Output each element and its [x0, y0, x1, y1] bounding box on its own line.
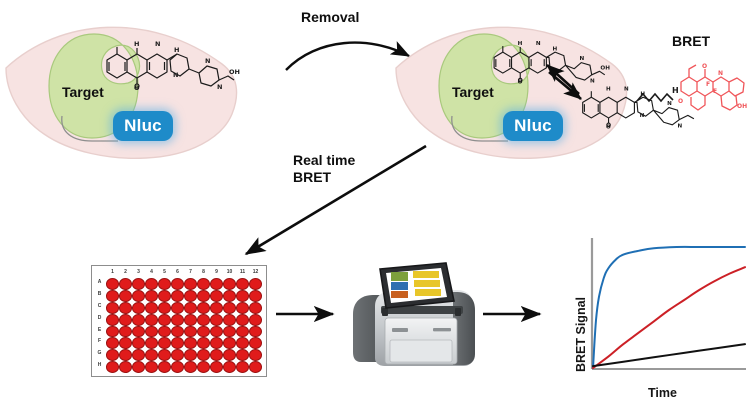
plate-col-label: 6 [171, 269, 184, 275]
plate-well[interactable] [119, 290, 132, 302]
plate-well[interactable] [158, 326, 171, 338]
nluc-label-right: Nluc [514, 116, 552, 136]
svg-text:O: O [702, 63, 707, 70]
plate-well[interactable] [171, 290, 184, 302]
svg-text:N: N [217, 83, 222, 91]
plate-col-label: 8 [197, 269, 210, 275]
svg-text:H: H [606, 86, 611, 92]
real-time-bret-arrow [232, 142, 432, 267]
plate-well[interactable] [158, 290, 171, 302]
plate-well[interactable] [106, 337, 119, 349]
plate-well[interactable] [223, 290, 236, 302]
plate-row-label: E [94, 327, 105, 333]
target-label-left: Target [62, 84, 104, 101]
microplate[interactable]: 123456789101112 ABCDEFGH [91, 265, 267, 377]
plate-well[interactable] [158, 361, 171, 373]
svg-text:O: O [678, 98, 683, 105]
plate-well[interactable] [119, 361, 132, 373]
plate-well[interactable] [158, 302, 171, 314]
plate-well[interactable] [210, 290, 223, 302]
reader-to-chart-arrow [482, 303, 554, 325]
plate-well[interactable] [184, 302, 197, 314]
plate-well[interactable] [184, 337, 197, 349]
plate-well[interactable] [106, 290, 119, 302]
plate-well[interactable] [197, 361, 210, 373]
nluc-label-left: Nluc [124, 116, 162, 136]
svg-text:N: N [536, 41, 541, 47]
plate-well[interactable] [132, 337, 145, 349]
plate-to-reader-arrow [275, 303, 347, 325]
screen-block [415, 289, 441, 296]
svg-text:OH: OH [737, 103, 747, 110]
plate-well[interactable] [171, 314, 184, 326]
plate-well[interactable] [132, 361, 145, 373]
plate-row-label: C [94, 303, 105, 309]
plate-well[interactable] [236, 326, 249, 338]
plate-well-grid[interactable] [106, 278, 262, 373]
plate-well[interactable] [132, 349, 145, 361]
plate-well[interactable] [236, 290, 249, 302]
plate-well[interactable] [119, 349, 132, 361]
svg-text:OH: OH [229, 68, 240, 76]
plate-well[interactable] [132, 302, 145, 314]
chart-series-low-linear [593, 344, 745, 366]
chart-series-slow-rising [593, 267, 745, 368]
chart-plot-area [588, 238, 748, 380]
plate-well[interactable] [249, 326, 262, 338]
svg-text:H: H [134, 40, 139, 48]
plate-well[interactable] [106, 314, 119, 326]
plate-well[interactable] [197, 337, 210, 349]
plate-well[interactable] [145, 278, 158, 290]
plate-well[interactable] [197, 314, 210, 326]
plate-well[interactable] [184, 361, 197, 373]
plate-well[interactable] [210, 361, 223, 373]
svg-text:F: F [706, 81, 710, 88]
plate-row-label: G [94, 350, 105, 356]
ligand-structure-left: H N H N N N OH O [100, 34, 240, 92]
plate-row-label: B [94, 291, 105, 297]
plate-well[interactable] [223, 326, 236, 338]
plate-well[interactable] [249, 361, 262, 373]
plate-well[interactable] [236, 278, 249, 290]
svg-text:OH: OH [600, 66, 610, 72]
plate-column-headers: 123456789101112 [92, 266, 266, 278]
bret-kinetics-chart: BRET Signal Time [560, 238, 750, 408]
plate-well[interactable] [197, 278, 210, 290]
svg-text:N: N [624, 86, 629, 92]
removal-label: Removal [301, 9, 359, 26]
plate-well[interactable] [197, 349, 210, 361]
chart-x-axis-label: Time [648, 386, 677, 400]
plate-well[interactable] [171, 278, 184, 290]
plate-well[interactable] [236, 349, 249, 361]
plate-well[interactable] [210, 337, 223, 349]
plate-well[interactable] [106, 278, 119, 290]
plate-col-label: 7 [184, 269, 197, 275]
plate-well[interactable] [119, 302, 132, 314]
svg-text:N: N [718, 70, 723, 77]
plate-well[interactable] [249, 278, 262, 290]
plate-well[interactable] [223, 349, 236, 361]
svg-text:F: F [713, 88, 717, 95]
plate-well[interactable] [158, 349, 171, 361]
plate-col-label: 9 [210, 269, 223, 275]
plate-well[interactable] [210, 349, 223, 361]
screen-block [414, 280, 440, 287]
plate-well[interactable] [184, 278, 197, 290]
screen-block [391, 291, 408, 298]
plate-well[interactable] [119, 326, 132, 338]
plate-row-headers: ABCDEFGH [92, 266, 106, 376]
plate-col-label: 2 [119, 269, 132, 275]
plate-well[interactable] [145, 314, 158, 326]
plate-well[interactable] [171, 337, 184, 349]
bret-label: BRET [672, 33, 710, 50]
plate-well[interactable] [145, 337, 158, 349]
plate-well[interactable] [145, 361, 158, 373]
plate-well[interactable] [210, 278, 223, 290]
plate-well[interactable] [249, 337, 262, 349]
svg-text:H: H [174, 46, 179, 54]
plate-well[interactable] [158, 278, 171, 290]
plate-reader[interactable] [345, 262, 485, 372]
chart-y-axis-label: BRET Signal [574, 297, 588, 372]
plate-row-label: A [94, 279, 105, 285]
svg-text:H: H [518, 41, 523, 47]
plate-well[interactable] [236, 361, 249, 373]
plate-well[interactable] [132, 290, 145, 302]
plate-well[interactable] [184, 349, 197, 361]
svg-text:N: N [205, 57, 210, 65]
plate-well[interactable] [249, 349, 262, 361]
screen-block [391, 272, 408, 281]
plate-well[interactable] [210, 326, 223, 338]
plate-well[interactable] [119, 337, 132, 349]
plate-well[interactable] [119, 278, 132, 290]
reader-screen[interactable] [374, 261, 458, 317]
plate-well[interactable] [197, 290, 210, 302]
screen-block [413, 271, 439, 278]
plate-well[interactable] [184, 290, 197, 302]
plate-well[interactable] [106, 349, 119, 361]
svg-text:N: N [155, 40, 160, 48]
svg-text:O: O [518, 80, 523, 86]
plate-well[interactable] [223, 278, 236, 290]
fluorophore-structure: O N O OH F F [676, 60, 748, 122]
nluc-badge-left: Nluc [113, 111, 173, 141]
plate-well[interactable] [171, 349, 184, 361]
plate-well[interactable] [184, 314, 197, 326]
plate-well[interactable] [132, 326, 145, 338]
plate-well[interactable] [158, 337, 171, 349]
plate-well[interactable] [249, 302, 262, 314]
plate-well[interactable] [106, 302, 119, 314]
plate-col-label: 11 [236, 269, 249, 275]
plate-col-label: 4 [145, 269, 158, 275]
plate-col-label: 5 [158, 269, 171, 275]
plate-well[interactable] [145, 302, 158, 314]
plate-well[interactable] [223, 314, 236, 326]
plate-col-label: 12 [249, 269, 262, 275]
plate-well[interactable] [158, 314, 171, 326]
plate-well[interactable] [145, 290, 158, 302]
plate-row-label: D [94, 315, 105, 321]
target-label-right: Target [452, 84, 494, 101]
plate-well[interactable] [132, 278, 145, 290]
plate-well[interactable] [210, 302, 223, 314]
plate-col-label: 3 [132, 269, 145, 275]
plate-row-label: H [94, 362, 105, 368]
plate-well[interactable] [197, 302, 210, 314]
plate-well[interactable] [132, 314, 145, 326]
plate-well[interactable] [106, 361, 119, 373]
plate-well[interactable] [223, 302, 236, 314]
plate-well[interactable] [197, 326, 210, 338]
plate-well[interactable] [223, 337, 236, 349]
svg-text:O: O [606, 124, 611, 130]
svg-text:N: N [173, 71, 178, 79]
figure-canvas: Target Nluc [0, 0, 750, 411]
plate-well[interactable] [236, 302, 249, 314]
plate-well[interactable] [236, 314, 249, 326]
plate-row-label: F [94, 338, 105, 344]
plate-well[interactable] [210, 314, 223, 326]
plate-well[interactable] [145, 349, 158, 361]
plate-well[interactable] [249, 314, 262, 326]
plate-col-label: 1 [106, 269, 119, 275]
screen-block [391, 282, 408, 290]
svg-text:H: H [552, 46, 557, 52]
plate-well[interactable] [106, 326, 119, 338]
svg-text:O: O [134, 84, 140, 92]
svg-text:N: N [640, 113, 645, 119]
plate-col-label: 10 [223, 269, 236, 275]
plate-well[interactable] [171, 302, 184, 314]
plate-well[interactable] [119, 314, 132, 326]
svg-text:N: N [678, 123, 683, 129]
plate-well[interactable] [145, 326, 158, 338]
plate-well[interactable] [223, 361, 236, 373]
plate-well[interactable] [171, 361, 184, 373]
plate-well[interactable] [249, 290, 262, 302]
plate-well[interactable] [184, 326, 197, 338]
plate-well[interactable] [236, 337, 249, 349]
plate-well[interactable] [171, 326, 184, 338]
nluc-badge-right: Nluc [503, 111, 563, 141]
